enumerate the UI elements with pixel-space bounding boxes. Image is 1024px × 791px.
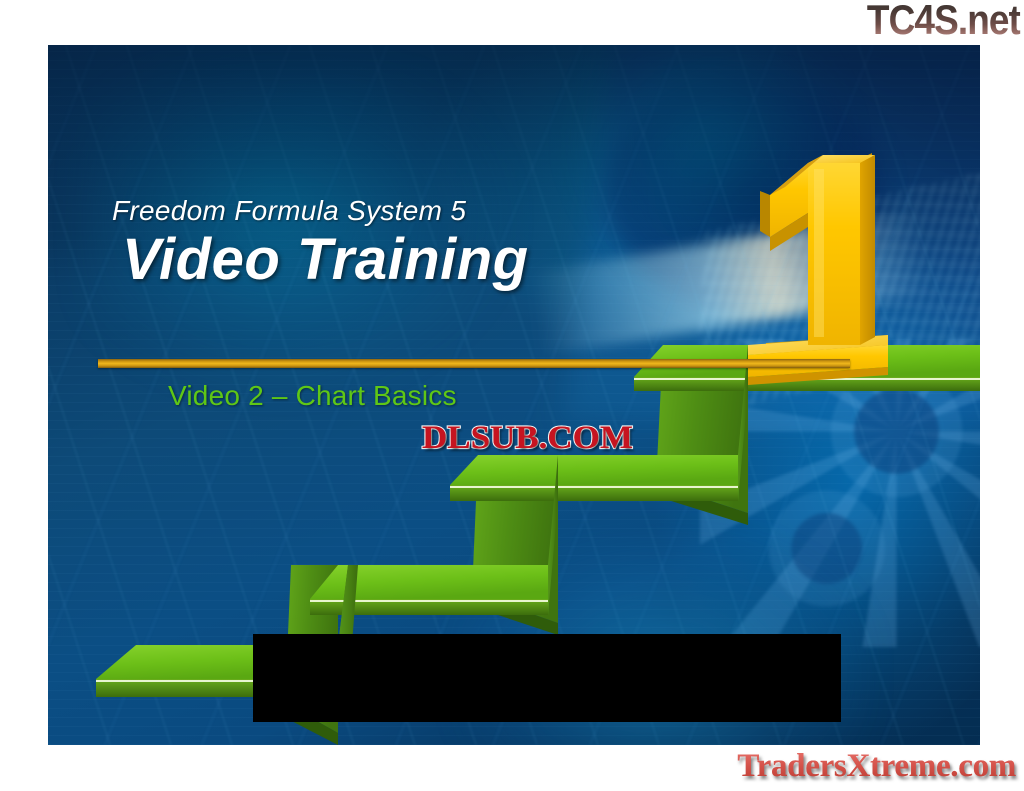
tc4s-net-watermark: TC4S.net [867, 0, 1020, 42]
title-block: Freedom Formula System 5 Video Training [110, 195, 830, 292]
slide-subtitle: Video 2 – Chart Basics [168, 380, 457, 412]
gold-divider-rule [98, 359, 850, 368]
dlsub-watermark: DLSUB.COM [422, 420, 633, 457]
tradersxtreme-watermark: TradersXtreme.com [737, 748, 1016, 785]
slide-eyebrow-text: Freedom Formula System 5 [112, 195, 830, 227]
redacted-black-bar [253, 634, 841, 722]
presentation-slide: Freedom Formula System 5 Video Training … [48, 45, 980, 745]
slide-title: Video Training [122, 229, 830, 292]
